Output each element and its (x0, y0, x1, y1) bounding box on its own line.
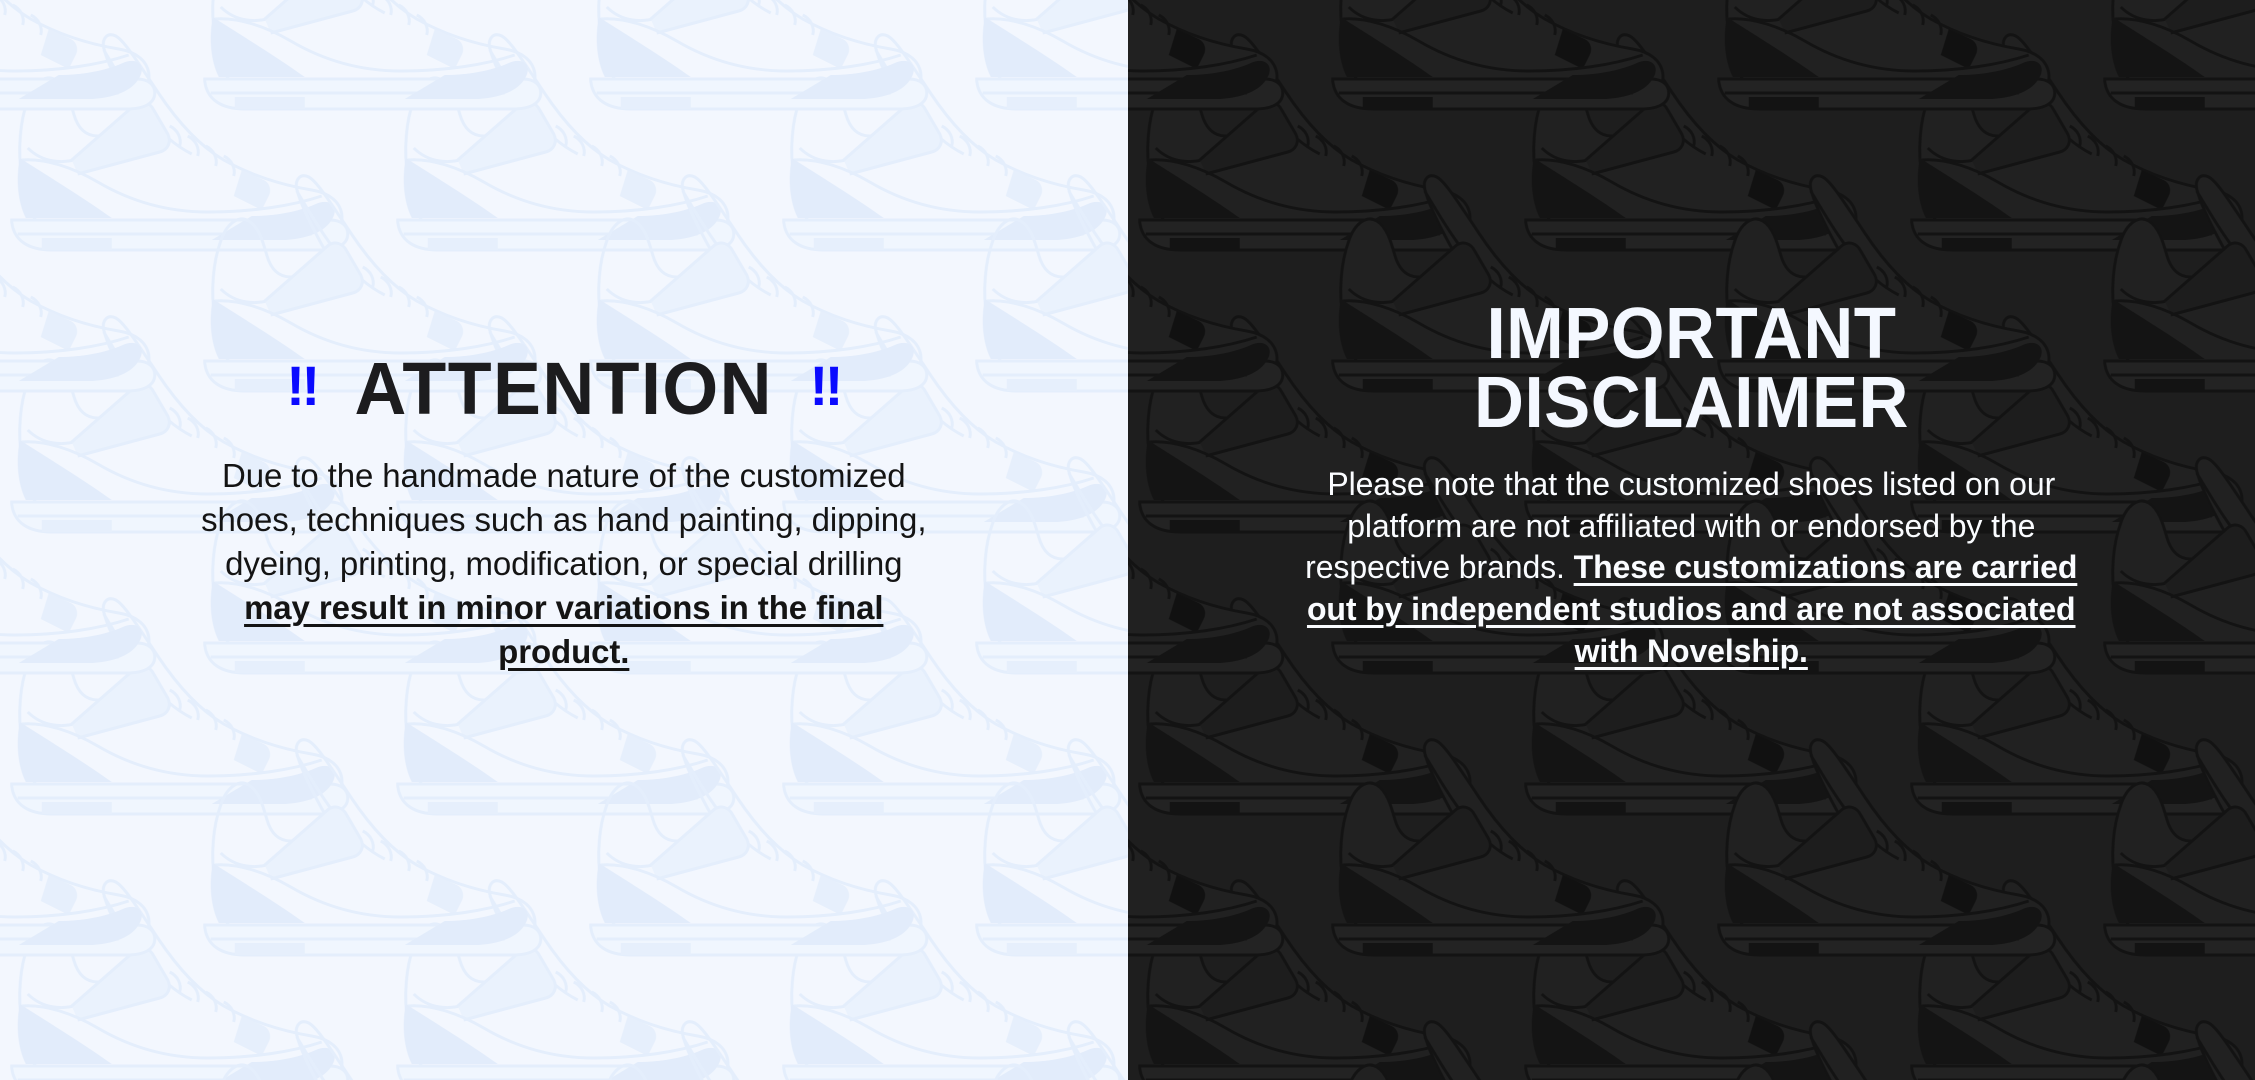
disclaimer-headline: IMPORTANT DISCLAIMER (1474, 300, 1909, 438)
customs-notice-banner: ‼ ATTENTION ‼ Due to the handmade nature… (0, 0, 2255, 1080)
disclaimer-content: IMPORTANT DISCLAIMER Please note that th… (1128, 0, 2255, 672)
double-exclamation-right-icon: ‼ (809, 358, 841, 414)
attention-headline: ‼ ATTENTION ‼ (286, 352, 841, 426)
attention-panel: ‼ ATTENTION ‼ Due to the handmade nature… (0, 0, 1128, 1080)
double-exclamation-left-icon: ‼ (286, 358, 318, 414)
attention-body: Due to the handmade nature of the custom… (194, 454, 934, 673)
attention-content: ‼ ATTENTION ‼ Due to the handmade nature… (0, 0, 1128, 673)
disclaimer-body: Please note that the customized shoes li… (1281, 464, 2101, 672)
attention-body-emphasis: may result in minor variations in the fi… (244, 589, 883, 670)
disclaimer-headline-line-1: IMPORTANT (1474, 300, 1909, 369)
disclaimer-panel: IMPORTANT DISCLAIMER Please note that th… (1128, 0, 2255, 1080)
disclaimer-headline-line-2: DISCLAIMER (1474, 369, 1909, 438)
attention-body-normal: Due to the handmade nature of the custom… (201, 457, 926, 582)
attention-headline-word: ATTENTION (355, 352, 773, 426)
